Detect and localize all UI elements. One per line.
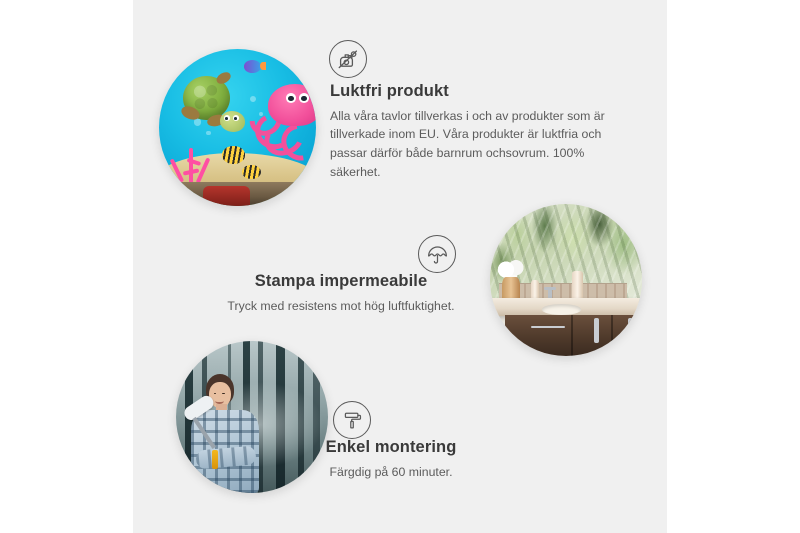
infographic-canvas: Luktfri produkt Alla våra tavlor tillver…	[0, 0, 800, 533]
no-perfume-icon	[329, 40, 367, 78]
feature-heading-easy-install: Enkel montering	[258, 438, 524, 458]
underwater-scene	[159, 49, 316, 206]
blue-fish	[244, 60, 261, 73]
paint-roller-icon	[333, 401, 371, 439]
feature-text-waterproof: Stampa impermeabile Tryck med resistens …	[208, 272, 474, 315]
feature-body-odorless: Alla våra tavlor tillverkas i och av pro…	[330, 107, 622, 182]
yellow-fish-1	[222, 146, 246, 163]
feature-body-waterproof: Tryck med resistens mot hög luftfuktighe…	[208, 297, 474, 316]
vanity-cabinet	[505, 315, 642, 356]
feature-text-odorless: Luktfri produkt Alla våra tavlor tillver…	[330, 82, 622, 182]
coral	[168, 143, 215, 187]
feature-text-easy-install: Enkel montering Färgdig på 60 minuter.	[258, 438, 524, 481]
octopus	[253, 84, 316, 153]
feature-image-underwater-cartoon-mural	[159, 49, 316, 206]
feature-image-bathroom-tropical-wallpaper	[490, 204, 642, 356]
feature-heading-odorless: Luktfri produkt	[330, 82, 622, 102]
umbrella-icon	[418, 235, 456, 273]
bathroom-scene	[490, 204, 642, 356]
feature-heading-waterproof: Stampa impermeabile	[208, 272, 474, 292]
turtle	[179, 76, 242, 136]
feature-body-easy-install: Färgdig på 60 minuter.	[258, 463, 524, 482]
woman-with-paint-roller	[188, 374, 267, 493]
